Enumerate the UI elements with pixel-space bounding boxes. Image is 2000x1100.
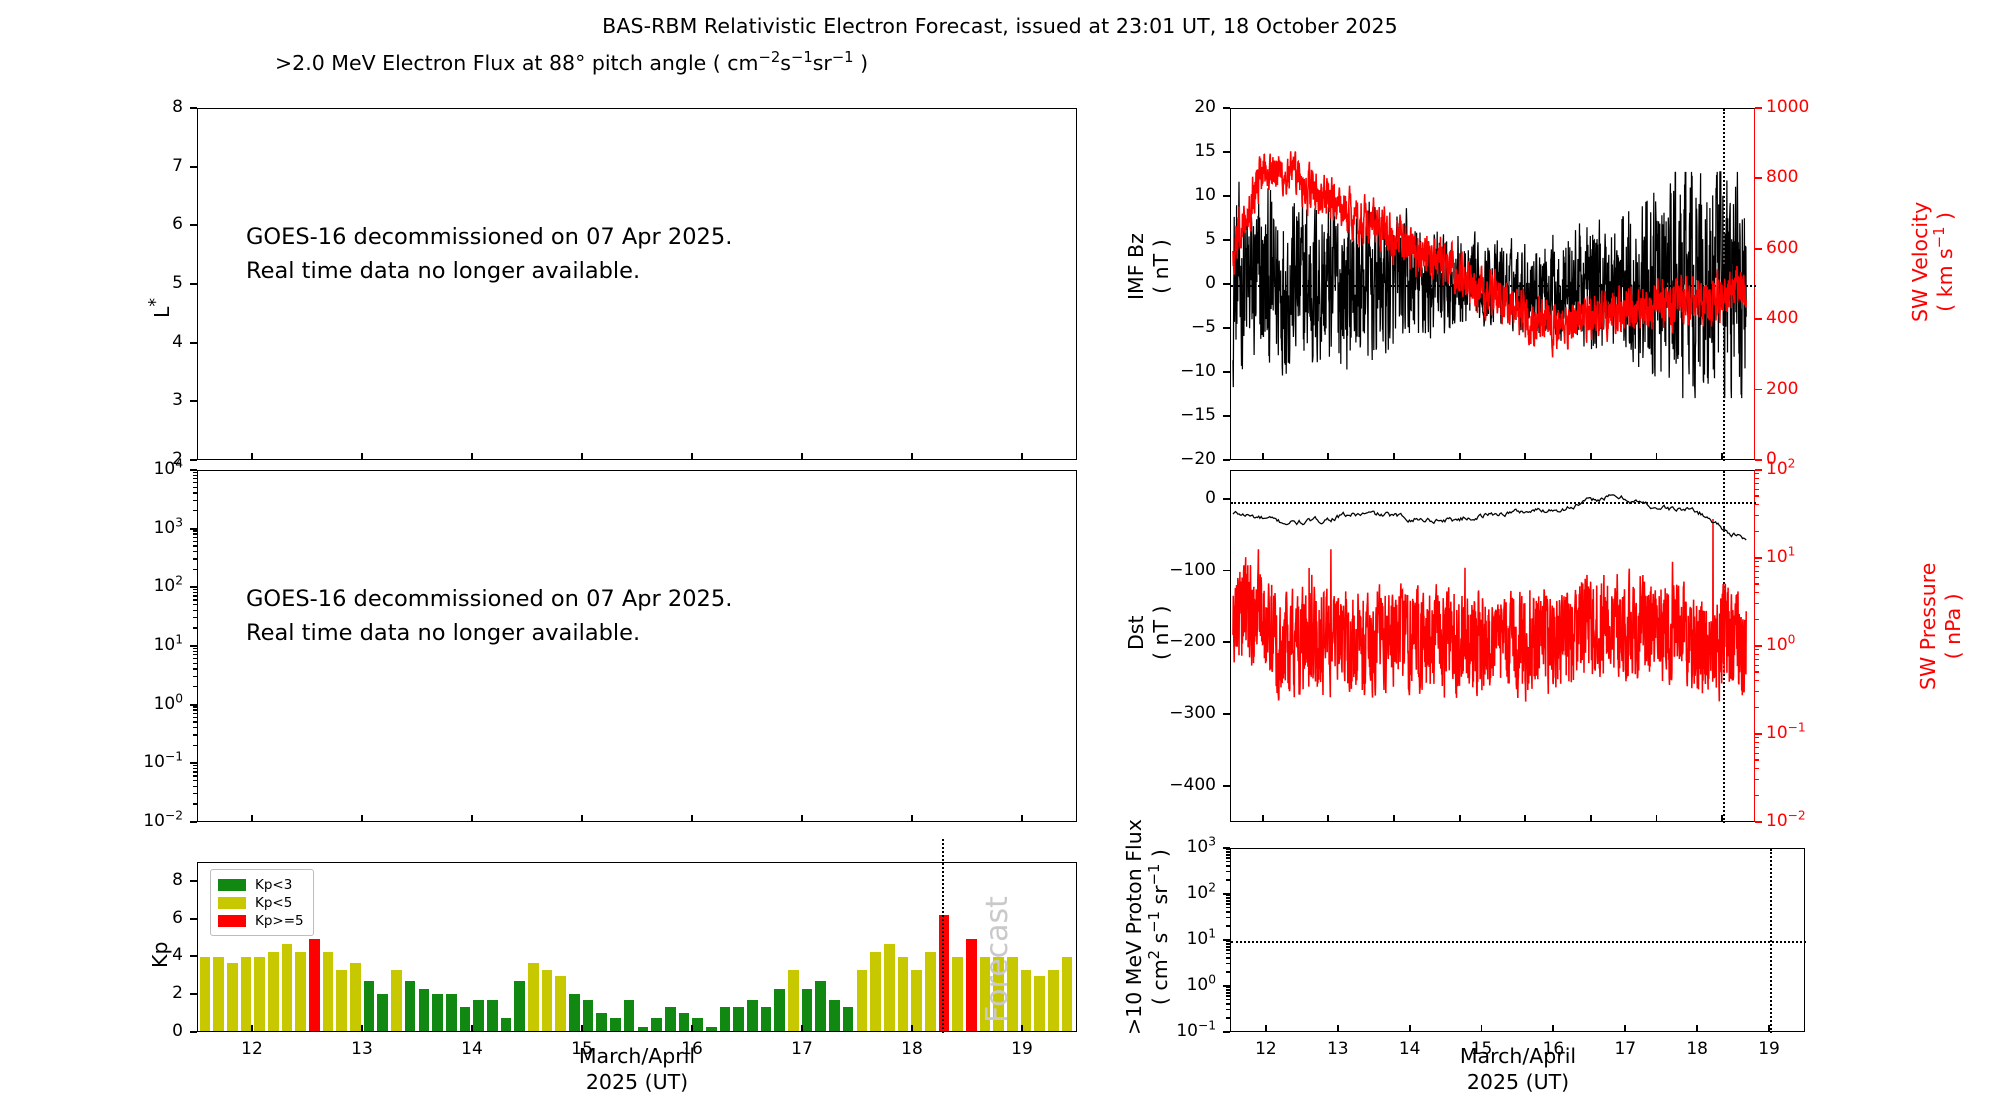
dst-y-4: 0 — [1096, 488, 1216, 508]
kp-bar — [364, 981, 375, 1031]
kp-bar — [254, 957, 265, 1031]
kp-bar — [514, 981, 525, 1031]
swp-y-4: 102 — [1766, 459, 1795, 479]
kp-bar — [898, 957, 909, 1031]
flux-title-unit3: sr — [813, 51, 832, 75]
kp-bar — [857, 970, 868, 1031]
kp-bar — [323, 952, 334, 1031]
dst-panel[interactable] — [1230, 470, 1755, 822]
kp-bar — [1048, 970, 1059, 1031]
lstar-panel-message: GOES-16 decommissioned on 07 Apr 2025.Re… — [246, 221, 732, 289]
kp-bar — [733, 1007, 744, 1031]
kp-legend-swatch-high — [218, 915, 246, 927]
kp-bar — [952, 957, 963, 1031]
lstar-axis-label: L* — [150, 298, 174, 318]
kp-legend-swatch-mid — [218, 897, 246, 909]
proton-flux-threshold-line — [1231, 941, 1806, 943]
bz-y-1: −15 — [1096, 405, 1216, 425]
kp-bar — [788, 970, 799, 1031]
kp-bar — [555, 976, 566, 1031]
dst-series-plot — [1231, 471, 1756, 823]
kp-bar — [213, 957, 224, 1031]
swp-label-line2: ( nPa ) — [1941, 593, 1965, 659]
kp-tick-2: 14 — [442, 1039, 502, 1059]
kp-tick-3: 15 — [552, 1039, 612, 1059]
dst-y-1: −300 — [1096, 703, 1216, 723]
degree-symbol: ° — [575, 51, 585, 75]
kp-tick-6: 18 — [882, 1039, 942, 1059]
kp-y-3: 6 — [63, 908, 183, 928]
flux-title-exp3: −1 — [832, 49, 854, 66]
swv-y-3: 600 — [1766, 238, 1798, 258]
swp-label-line1: SW Pressure — [1916, 563, 1940, 690]
kp-legend-row-mid: Kp<5 — [218, 894, 304, 911]
sw-velocity-axis-label: SW Velocity( km s−1 ) — [1908, 202, 1957, 322]
swv-y-4: 800 — [1766, 167, 1798, 187]
sw-pressure-trace — [1233, 519, 1746, 702]
kp-bar — [925, 952, 936, 1031]
kp-bar — [596, 1013, 607, 1031]
kp-bar — [747, 1000, 758, 1031]
dst-y-2: −200 — [1096, 631, 1216, 651]
kp-legend: Kp<3 Kp<5 Kp>=5 — [210, 869, 314, 936]
kp-bar — [487, 1000, 498, 1031]
bz-y-2: −10 — [1096, 361, 1216, 381]
pf-x-tick-2: 14 — [1380, 1039, 1440, 1059]
swp-y-0: 10−2 — [1766, 811, 1806, 831]
kp-y-0: 0 — [63, 1021, 183, 1041]
dst-y-0: −400 — [1096, 775, 1216, 795]
kp-tick-1: 13 — [332, 1039, 392, 1059]
flux-title-suffix: ) — [854, 51, 869, 75]
kp-y-4: 8 — [63, 870, 183, 890]
proton-flux-forecast-divider — [1770, 849, 1772, 1033]
kp-bar — [911, 970, 922, 1031]
pf-x-tick-1: 13 — [1308, 1039, 1368, 1059]
kp-bar — [843, 1007, 854, 1031]
flux-title-exp1: −2 — [759, 49, 781, 66]
pf-x-tick-7: 19 — [1739, 1039, 1799, 1059]
dst-y-3: −100 — [1096, 560, 1216, 580]
kp-legend-label-low: Kp<3 — [255, 877, 292, 893]
kp-x-title-line2: 2025 (UT) — [586, 1070, 688, 1094]
pf-y-4: 103 — [1096, 837, 1216, 857]
kp-bar — [542, 970, 553, 1031]
kp-bar — [1021, 970, 1032, 1031]
kp-bar-group — [198, 863, 1076, 1031]
kp-bar — [651, 1018, 662, 1031]
swv-y-1: 200 — [1766, 379, 1798, 399]
flux-y-0: 10−2 — [63, 811, 183, 831]
lstar-y-1: 3 — [63, 390, 183, 410]
kp-legend-label-mid: Kp<5 — [255, 895, 292, 911]
pf-y-2: 101 — [1096, 929, 1216, 949]
kp-bar — [829, 1000, 840, 1031]
swv-label-line2: ( km s−1 ) — [1933, 212, 1957, 312]
forecast-watermark: Forecast — [980, 896, 1015, 1023]
flux-y-3: 101 — [63, 635, 183, 655]
kp-bar — [610, 1018, 621, 1031]
kp-bar — [377, 994, 388, 1031]
flux-panel-message: GOES-16 decommissioned on 07 Apr 2025.Re… — [246, 583, 732, 651]
flux-msg-line2: Real time data no longer available. — [246, 620, 640, 646]
kp-bar — [870, 952, 881, 1031]
bz-y-4: 0 — [1096, 273, 1216, 293]
kp-legend-row-low: Kp<3 — [218, 876, 304, 893]
lstar-y-6: 8 — [63, 97, 183, 117]
swv-label-line1: SW Velocity — [1908, 202, 1932, 322]
flux-title-exp2: −1 — [791, 49, 813, 66]
kp-bar — [692, 1018, 703, 1031]
page-title: BAS-RBM Relativistic Electron Forecast, … — [0, 14, 2000, 38]
pf-y-0: 10−1 — [1096, 1021, 1216, 1041]
proton-flux-panel[interactable] — [1230, 848, 1805, 1032]
kp-bar — [295, 952, 306, 1031]
lstar-y-4: 6 — [63, 214, 183, 234]
swv-y-5: 1000 — [1766, 97, 1809, 117]
kp-bar — [815, 981, 826, 1031]
kp-bar — [720, 1007, 731, 1031]
kp-bar — [774, 989, 785, 1031]
kp-tick-0: 12 — [222, 1039, 282, 1059]
kp-bar — [446, 994, 457, 1031]
lstar-msg-line2: Real time data no longer available. — [246, 258, 640, 284]
kp-bar — [761, 1007, 772, 1031]
kp-bar — [200, 957, 211, 1031]
bz-y-3: −5 — [1096, 317, 1216, 337]
kp-bar — [282, 944, 293, 1031]
flux-y-1: 10−1 — [63, 752, 183, 772]
pf-y-3: 102 — [1096, 883, 1216, 903]
imf-bz-panel[interactable] — [1230, 108, 1755, 460]
kp-bar — [569, 994, 580, 1031]
pf-x-tick-0: 12 — [1236, 1039, 1296, 1059]
kp-bar — [665, 1007, 676, 1031]
kp-bar — [227, 963, 238, 1031]
bz-y-5: 5 — [1096, 229, 1216, 249]
kp-bar — [884, 944, 895, 1031]
flux-title-unit2: s — [780, 51, 791, 75]
kp-tick-5: 17 — [772, 1039, 832, 1059]
pf-y-1: 100 — [1096, 975, 1216, 995]
kp-y-1: 2 — [63, 983, 183, 1003]
lstar-y-2: 4 — [63, 332, 183, 352]
flux-y-6: 104 — [63, 459, 183, 479]
proton-flux-x-axis-title: March/April2025 (UT) — [1318, 1043, 1718, 1095]
swp-y-2: 100 — [1766, 635, 1795, 655]
pf-x-tick-4: 16 — [1523, 1039, 1583, 1059]
kp-legend-label-high: Kp>=5 — [255, 913, 304, 929]
bz-y-7: 15 — [1096, 141, 1216, 161]
kp-panel[interactable]: Forecast Kp<3 Kp<5 Kp>=5 — [197, 862, 1077, 1032]
electron-flux-panel-title: >2.0 MeV Electron Flux at 88° pitch angl… — [275, 51, 868, 75]
lstar-panel[interactable]: GOES-16 decommissioned on 07 Apr 2025.Re… — [197, 108, 1077, 460]
kp-bar — [405, 981, 416, 1031]
kp-bar — [432, 994, 443, 1031]
kp-bar — [802, 989, 813, 1031]
kp-y-2: 4 — [63, 945, 183, 965]
sw-pressure-axis-label: SW Pressure( nPa ) — [1916, 563, 1965, 690]
kp-bar — [460, 1007, 471, 1031]
flux-y-2: 100 — [63, 694, 183, 714]
flux-title-prefix: >2.0 MeV Electron Flux at 88 — [275, 51, 575, 75]
kp-bar — [706, 1027, 717, 1031]
pf-x-tick-3: 15 — [1452, 1039, 1512, 1059]
flux-y-5: 103 — [63, 518, 183, 538]
kp-bar — [268, 952, 279, 1031]
kp-tick-7: 19 — [992, 1039, 1052, 1059]
flux-title-mid: pitch angle ( cm — [585, 51, 758, 75]
flux-msg-line1: GOES-16 decommissioned on 07 Apr 2025. — [246, 586, 732, 612]
kp-bar — [583, 1000, 594, 1031]
kp-bar — [309, 939, 320, 1031]
flux-y-4: 102 — [63, 576, 183, 596]
kp-bar — [473, 1000, 484, 1031]
kp-bar — [350, 963, 361, 1031]
kp-legend-swatch-low — [218, 879, 246, 891]
kp-forecast-divider — [942, 839, 944, 1033]
lstar-msg-line1: GOES-16 decommissioned on 07 Apr 2025. — [246, 224, 732, 250]
swp-y-1: 10−1 — [1766, 723, 1806, 743]
bz-series-plot — [1231, 109, 1756, 461]
kp-bar — [1062, 957, 1073, 1031]
kp-bar — [391, 970, 402, 1031]
kp-bar — [679, 1013, 690, 1031]
kp-bar — [419, 989, 430, 1031]
bz-y-6: 10 — [1096, 185, 1216, 205]
kp-bar — [241, 957, 252, 1031]
bz-y-8: 20 — [1096, 97, 1216, 117]
kp-bar — [638, 1027, 649, 1031]
kp-bar — [336, 970, 347, 1031]
bz-y-0: −20 — [1096, 449, 1216, 469]
pf-x-title-line2: 2025 (UT) — [1467, 1070, 1569, 1094]
kp-bar — [528, 963, 539, 1031]
kp-bar — [624, 1000, 635, 1031]
lstar-y-5: 7 — [63, 156, 183, 176]
pf-x-tick-5: 17 — [1595, 1039, 1655, 1059]
electron-flux-panel[interactable]: GOES-16 decommissioned on 07 Apr 2025.Re… — [197, 470, 1077, 822]
pf-x-tick-6: 18 — [1667, 1039, 1727, 1059]
kp-tick-4: 16 — [662, 1039, 722, 1059]
kp-bar — [1034, 976, 1045, 1031]
swp-y-3: 101 — [1766, 547, 1795, 567]
lstar-y-3: 5 — [63, 273, 183, 293]
dst-trace — [1233, 495, 1746, 540]
kp-bar — [501, 1018, 512, 1031]
kp-bar — [966, 939, 977, 1031]
swv-y-2: 400 — [1766, 308, 1798, 328]
kp-legend-row-high: Kp>=5 — [218, 912, 304, 929]
